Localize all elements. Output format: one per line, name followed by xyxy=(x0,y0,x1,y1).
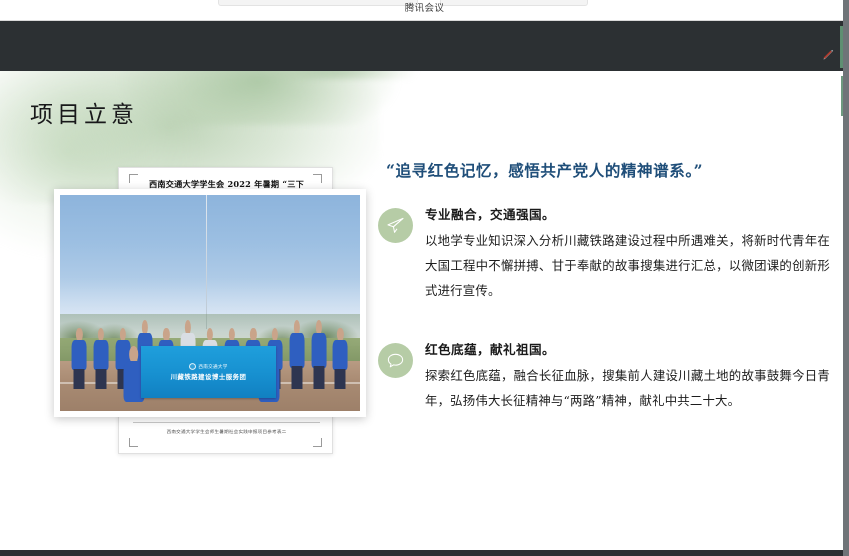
content-block-1-text: 以地学专业知识深入分析川藏铁路建设过程中所遇难关，将新时代青年在大国工程中不懈拼… xyxy=(425,228,830,303)
group-photo-frame: 西南交通大学 川藏铁路建设博士服务团 xyxy=(54,189,366,417)
presentation-slide: 项目立意 西南交通大学学生会 2022 年暑期 “三下 西南交通大学学生会师生暑… xyxy=(0,71,843,550)
photo-team-banner: 西南交通大学 川藏铁路建设博士服务团 xyxy=(141,346,276,398)
meeting-toolbar[interactable] xyxy=(0,21,843,71)
group-photo: 西南交通大学 川藏铁路建设博士服务团 xyxy=(60,195,360,411)
meeting-top-strip: 腾讯会议 xyxy=(0,0,849,21)
meeting-bottom-bar xyxy=(0,550,849,556)
document-footer-text: 西南交通大学学生会师生暑期社会实践申报项目参考表二 xyxy=(119,429,333,435)
meeting-app-title: 腾讯会议 xyxy=(0,2,849,16)
banner-org-name: 西南交通大学 xyxy=(198,364,227,370)
university-seal-icon xyxy=(189,364,196,371)
content-block-2-heading: 红色底蕴，献礼祖国。 xyxy=(425,340,830,360)
photo-person xyxy=(333,328,348,390)
pencil-annotate-icon[interactable] xyxy=(821,48,835,62)
photo-person xyxy=(290,320,305,390)
photo-person xyxy=(311,320,326,390)
photo-person xyxy=(72,328,87,390)
meeting-rail-indicator-top xyxy=(840,26,843,68)
paper-plane-icon xyxy=(378,208,413,243)
banner-team-name: 川藏铁路建设博士服务团 xyxy=(171,372,247,381)
speech-bubble-icon xyxy=(378,343,413,378)
content-block-1-heading: 专业融合，交通强国。 xyxy=(425,205,830,225)
slide-title: 项目立意 xyxy=(30,95,138,129)
banner-org-line: 西南交通大学 xyxy=(189,364,227,371)
slide-quote: “追寻红色记忆，感悟共产党人的精神谱系。” xyxy=(386,159,826,181)
content-block-2: 红色底蕴，献礼祖国。 探索红色底蕴，融合长征血脉，搜集前人建设川藏土地的故事鼓舞… xyxy=(378,340,830,413)
content-block-1: 专业融合，交通强国。 以地学专业知识深入分析川藏铁路建设过程中所遇难关，将新时代… xyxy=(378,205,830,303)
content-block-2-text: 探索红色底蕴，融合长征血脉，搜集前人建设川藏土地的故事鼓舞今日青年，弘扬伟大长征… xyxy=(425,363,830,413)
meeting-rail-indicator-bottom xyxy=(841,76,843,116)
crop-mark-icon xyxy=(129,438,138,447)
crop-mark-icon xyxy=(313,438,322,447)
watercolor-wash-decoration-4 xyxy=(255,71,465,79)
meeting-right-rail xyxy=(843,0,849,556)
document-divider xyxy=(133,422,320,423)
watercolor-wash-decoration-3 xyxy=(110,71,440,125)
meeting-screen: 腾讯会议 项目立意 西南交通大学学生会 2022 年暑期 “三下 西南交通大 xyxy=(0,0,849,556)
photo-person xyxy=(94,328,109,390)
